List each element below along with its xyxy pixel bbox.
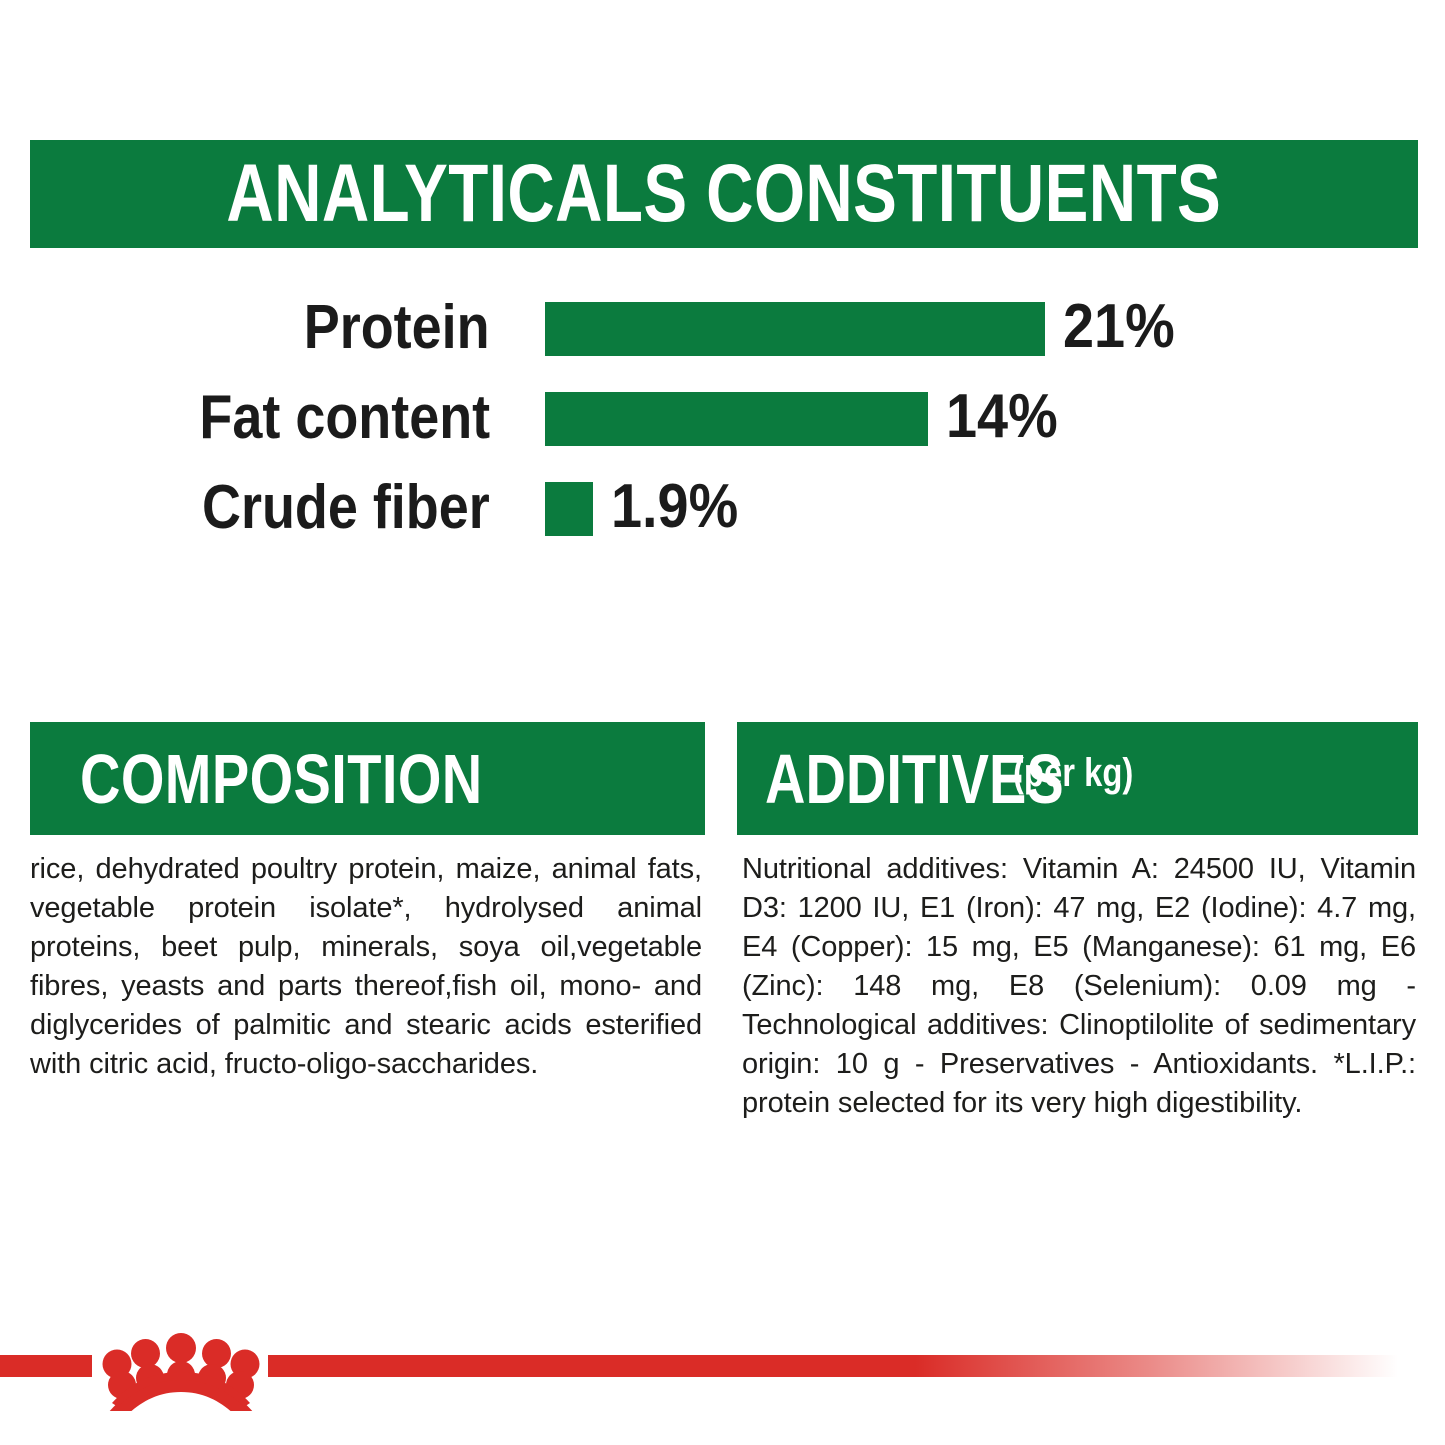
bar-label-crude-fiber: Crude fiber	[60, 472, 490, 544]
additives-body-text: Nutritional additives: Vitamin A: 24500 …	[742, 850, 1416, 1123]
composition-title: COMPOSITION	[80, 744, 483, 814]
product-label-page: ANALYTICALS CONSTITUENTS Protein 21% Fat…	[0, 0, 1445, 1445]
chart-row: Protein 21%	[0, 292, 1445, 364]
bar-value-protein: 21%	[1063, 292, 1187, 364]
footer	[0, 1355, 1445, 1393]
bar-value-crude-fiber: 1.9%	[611, 472, 752, 544]
chart-row: Fat content 14%	[0, 382, 1445, 454]
composition-body-text: rice, dehydrated poultry protein, maize,…	[30, 850, 702, 1084]
royal-canin-crown-logo	[100, 1321, 262, 1411]
chart-row: Crude fiber 1.9%	[0, 472, 1445, 544]
bar-fat-content	[545, 392, 928, 446]
bar-value-fat-content: 14%	[946, 382, 1070, 454]
additives-subtitle: (per kg)	[1013, 753, 1133, 793]
footer-rule-right	[268, 1355, 1445, 1377]
bar-crude-fiber	[545, 482, 593, 536]
analyticals-constituents-title: ANALYTICALS CONSTITUENTS	[227, 153, 1222, 235]
bar-label-fat-content: Fat content	[60, 382, 490, 454]
composition-header: COMPOSITION	[30, 722, 705, 835]
additives-header: ADDITIVES (per kg)	[737, 722, 1418, 835]
bar-label-protein: Protein	[60, 292, 490, 364]
bar-protein	[545, 302, 1045, 356]
analyticals-bar-chart: Protein 21% Fat content 14% Crude fiber …	[0, 292, 1445, 562]
footer-rule-left	[0, 1355, 92, 1377]
analyticals-constituents-header: ANALYTICALS CONSTITUENTS	[30, 140, 1418, 248]
